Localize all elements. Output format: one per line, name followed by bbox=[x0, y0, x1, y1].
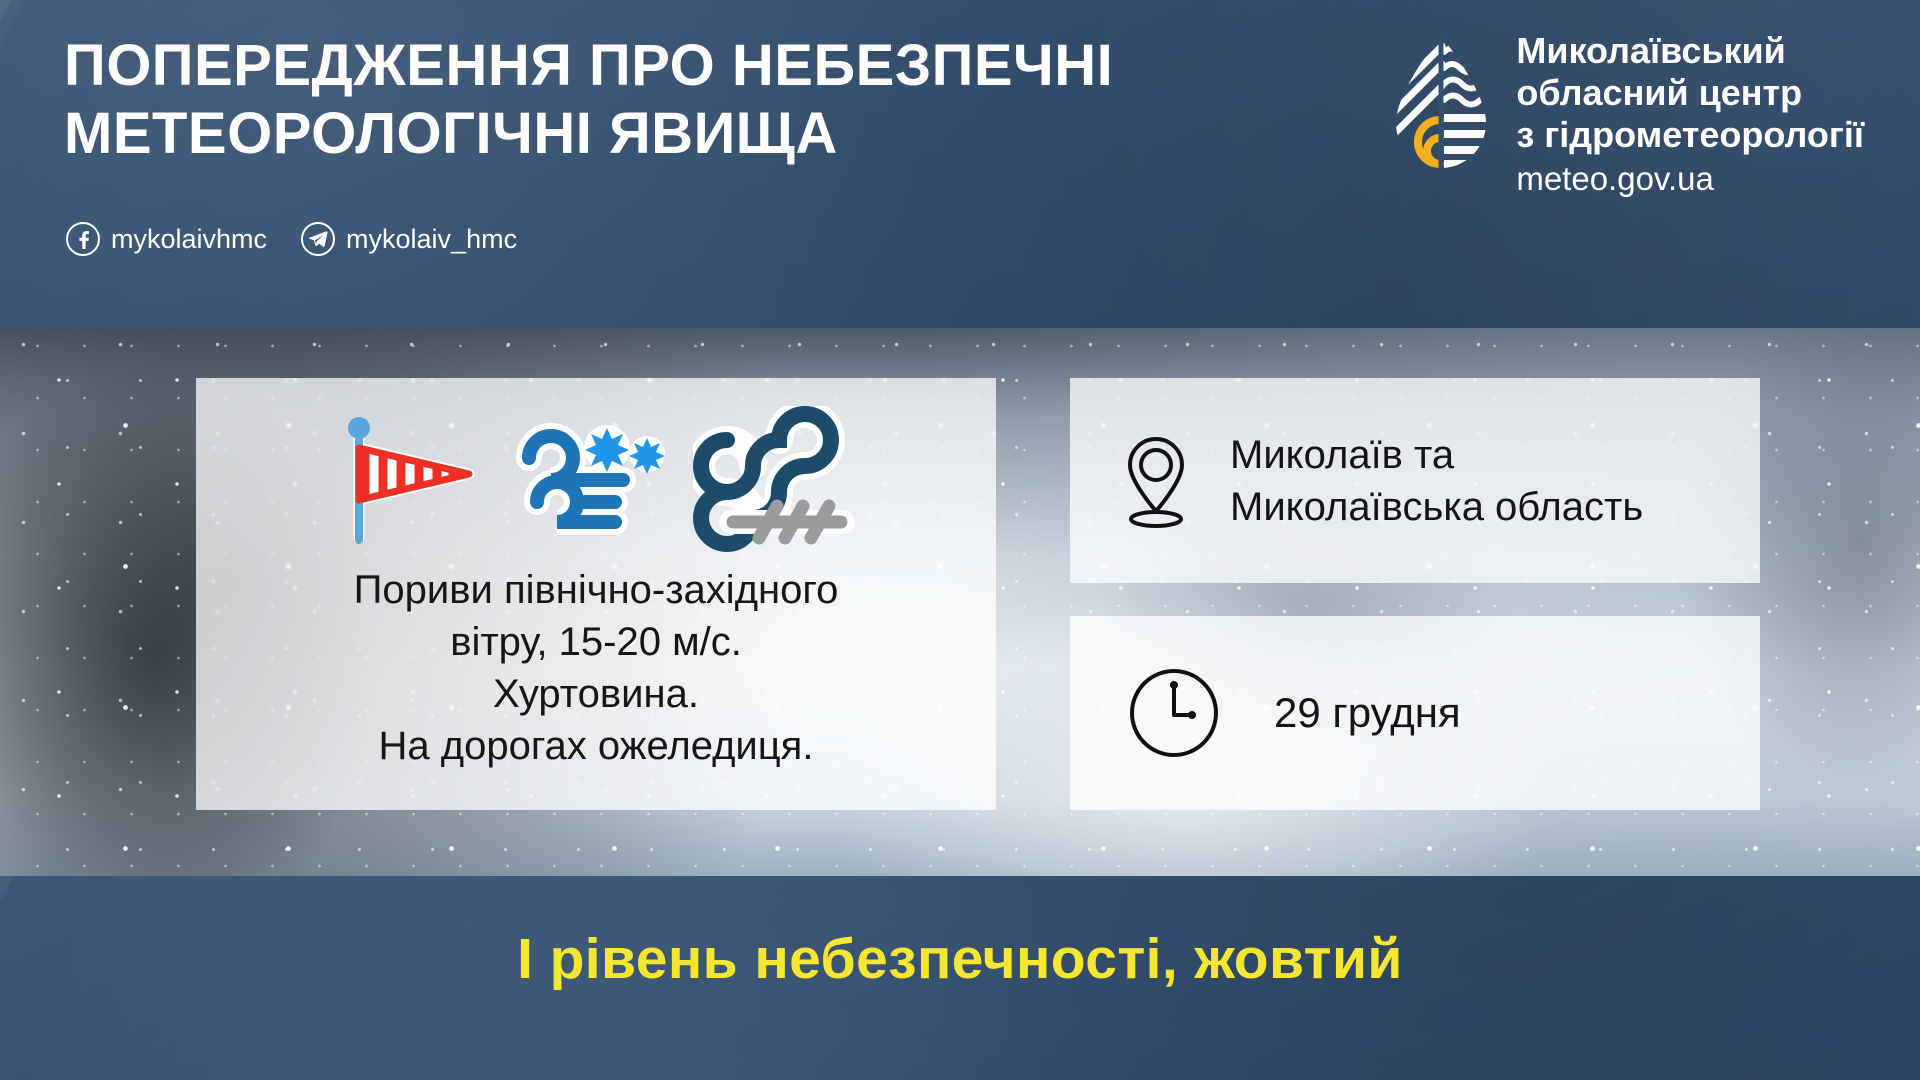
info-cards: Пориви північно-західного вітру, 15-20 м… bbox=[0, 328, 1920, 876]
location-card: Миколаїв та Миколаївська область bbox=[1070, 378, 1760, 583]
warning-line-1: Пориви північно-західного bbox=[216, 564, 976, 616]
logo-line-3: з гідрометеорології bbox=[1516, 114, 1864, 156]
danger-level-label: І рівень небезпечності, жовтий bbox=[0, 928, 1920, 991]
social-handle-facebook: mykolaivhmc bbox=[111, 226, 267, 253]
warning-line-3: Хуртовина. bbox=[216, 668, 976, 720]
page-title-line-1: ПОПЕРЕДЖЕННЯ ПРО НЕБЕЗПЕЧНІ bbox=[64, 32, 1244, 100]
warning-text: Пориви північно-західного вітру, 15-20 м… bbox=[216, 564, 976, 772]
weather-icon-row bbox=[216, 404, 976, 554]
location-text: Миколаїв та Миколаївська область bbox=[1230, 429, 1643, 533]
warning-card: Пориви північно-західного вітру, 15-20 м… bbox=[196, 378, 996, 810]
page-title-line-2: МЕТЕОРОЛОГІЧНІ ЯВИЩА bbox=[64, 100, 1244, 168]
date-card: 29 грудня bbox=[1070, 616, 1760, 810]
winter-road-photo-background: Пориви північно-західного вітру, 15-20 м… bbox=[0, 328, 1920, 876]
warning-line-2: вітру, 15-20 м/с. bbox=[216, 616, 976, 668]
clock-icon bbox=[1126, 665, 1222, 761]
storm-warning-flag-icon bbox=[331, 406, 481, 552]
logo-website-url[interactable]: meteo.gov.ua bbox=[1516, 158, 1864, 201]
weather-warning-poster: ПОПЕРЕДЖЕННЯ ПРО НЕБЕЗПЕЧНІ МЕТЕОРОЛОГІЧ… bbox=[0, 0, 1920, 1080]
page-title: ПОПЕРЕДЖЕННЯ ПРО НЕБЕЗПЕЧНІ МЕТЕОРОЛОГІЧ… bbox=[64, 32, 1244, 168]
facebook-icon bbox=[66, 222, 100, 256]
social-links: mykolaivhmc mykolaiv_hmc bbox=[66, 222, 517, 256]
organization-logo[interactable]: Миколаївський обласний центр з гідромете… bbox=[1392, 30, 1864, 201]
header-banner: ПОПЕРЕДЖЕННЯ ПРО НЕБЕЗПЕЧНІ МЕТЕОРОЛОГІЧ… bbox=[0, 0, 1920, 328]
social-link-facebook[interactable]: mykolaivhmc bbox=[66, 222, 267, 256]
location-line-2: Миколаївська область bbox=[1230, 481, 1643, 533]
warning-line-4: На дорогах ожеледиця. bbox=[216, 720, 976, 772]
logo-line-1: Миколаївський bbox=[1516, 30, 1864, 72]
black-ice-fog-icon bbox=[693, 406, 861, 552]
social-handle-telegram: mykolaiv_hmc bbox=[346, 226, 517, 253]
water-droplet-logo-icon bbox=[1392, 34, 1490, 172]
social-link-telegram[interactable]: mykolaiv_hmc bbox=[301, 222, 517, 256]
logo-line-2: обласний центр bbox=[1516, 72, 1864, 114]
telegram-icon bbox=[301, 222, 335, 256]
date-value: 29 грудня bbox=[1274, 688, 1461, 738]
map-pin-icon bbox=[1118, 433, 1194, 529]
blizzard-wind-snow-icon bbox=[507, 406, 667, 552]
location-line-1: Миколаїв та bbox=[1230, 429, 1643, 481]
footer-banner: І рівень небезпечності, жовтий bbox=[0, 876, 1920, 1080]
